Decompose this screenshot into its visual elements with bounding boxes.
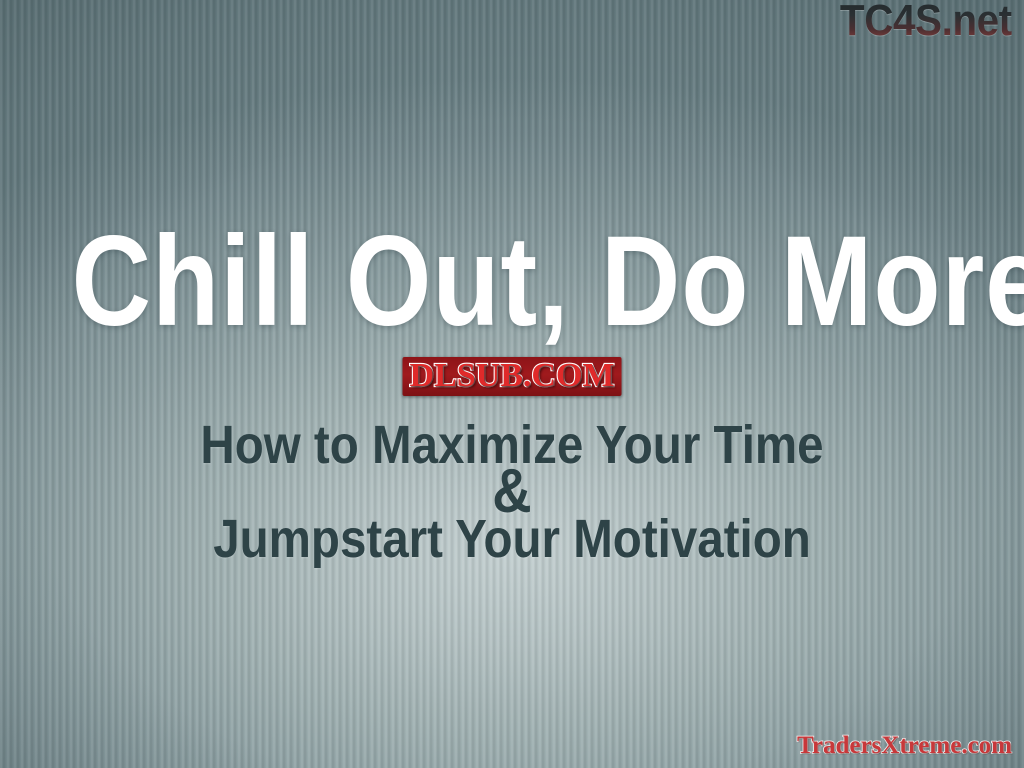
- presentation-slide: TC4S.net Chill Out, Do More DLSUB.COM Ho…: [0, 0, 1024, 768]
- slide-subtitle-block: How to Maximize Your Time & Jumpstart Yo…: [61, 418, 962, 567]
- subtitle-ampersand: &: [61, 473, 962, 511]
- watermark-stamp-text: DLSUB.COM: [410, 359, 615, 393]
- slide-title: Chill Out, Do More: [72, 218, 953, 346]
- watermark-top-right: TC4S.net: [840, 0, 1012, 46]
- watermark-stamp-badge: DLSUB.COM: [403, 357, 622, 396]
- watermark-bottom-right: TradersXtreme.com: [797, 732, 1012, 760]
- subtitle-line-2: Jumpstart Your Motivation: [61, 512, 962, 567]
